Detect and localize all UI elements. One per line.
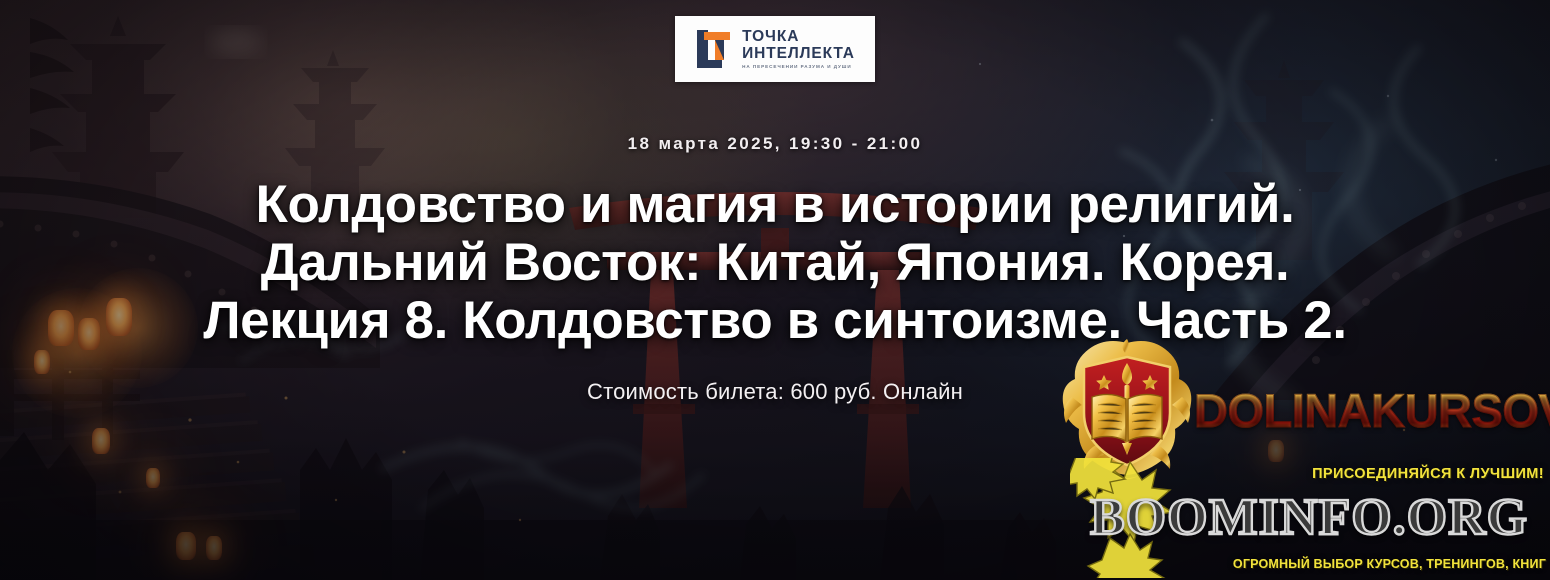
- logo-tagline: НА ПЕРЕСЕЧЕНИИ РАЗУМА И ДУШИ: [742, 65, 855, 70]
- event-title: Колдовство и магия в истории религий. Да…: [0, 176, 1550, 349]
- ticket-price: Стоимость билета: 600 руб. Онлайн: [587, 379, 963, 405]
- boominfo-top-text: ПРИСОЕДИНЯЙСЯ К ЛУЧШИМ!: [1312, 466, 1544, 482]
- event-title-line-2: Дальний Восток: Китай, Япония. Корея.: [24, 234, 1526, 292]
- event-date: 18 марта 2025, 19:30 - 21:00: [628, 134, 923, 154]
- dolinakursov-text: DOLINAKURSOV: [1194, 383, 1550, 438]
- tochka-intellekta-mark-icon: [695, 28, 735, 70]
- boominfo-watermark: ПРИСОЕДИНЯЙСЯ К ЛУЧШИМ! BOOMINFO.ORG ОГР…: [1070, 458, 1550, 578]
- boominfo-bottom-text: ОГРОМНЫЙ ВЫБОР КУРСОВ, ТРЕНИНГОВ, КНИГ: [1233, 557, 1546, 571]
- event-title-line-1: Колдовство и магия в истории религий.: [24, 176, 1526, 234]
- logo-line-2: ИНТЕЛЛЕКТА: [742, 46, 855, 62]
- event-banner: ТОЧКА ИНТЕЛЛЕКТА НА ПЕРЕСЕЧЕНИИ РАЗУМА И…: [0, 0, 1550, 580]
- boominfo-main-text: BOOMINFO.ORG: [1090, 488, 1528, 547]
- brand-logo: ТОЧКА ИНТЕЛЛЕКТА НА ПЕРЕСЕЧЕНИИ РАЗУМА И…: [675, 16, 875, 82]
- logo-wordmark: ТОЧКА ИНТЕЛЛЕКТА НА ПЕРЕСЕЧЕНИИ РАЗУМА И…: [742, 29, 855, 70]
- logo-line-1: ТОЧКА: [742, 29, 855, 45]
